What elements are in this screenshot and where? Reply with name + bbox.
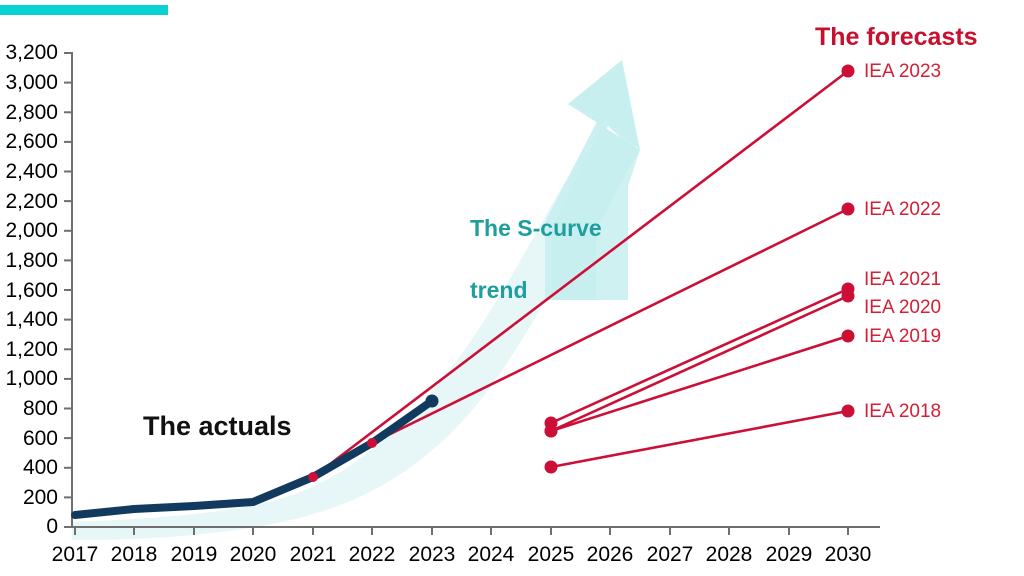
series-label-iea-2022: IEA 2022 [864, 199, 941, 221]
annotation-s-curve-line2: trend [470, 277, 528, 303]
line-iea-2018 [551, 411, 848, 467]
y-tick-label: 1,600 [0, 280, 58, 301]
y-tick-label: 1,400 [0, 309, 58, 330]
y-tick-label: 3,000 [0, 72, 58, 93]
y-axis-ticks [64, 53, 72, 527]
marker-iea2019-start [545, 425, 558, 438]
y-tick-label: 0 [0, 516, 58, 537]
y-tick-label: 2,800 [0, 102, 58, 123]
marker-iea2020-end [842, 290, 855, 303]
series-label-iea-2018: IEA 2018 [864, 401, 941, 423]
marker-iea2018-end [842, 405, 855, 418]
chart-root: 0 200 400 600 800 1,000 1,200 1,400 1,60… [0, 0, 1024, 576]
marker-iea2023-start [308, 472, 318, 482]
y-tick-label: 400 [0, 457, 58, 478]
forecasts-title: The forecasts [815, 23, 978, 52]
series-label-iea-2021: IEA 2021 [864, 269, 941, 291]
line-iea-2019 [551, 336, 848, 431]
y-tick-label: 3,200 [0, 42, 58, 63]
annotation-s-curve-trend: The S-curve trend [470, 182, 602, 306]
y-tick-label: 1,200 [0, 339, 58, 360]
annotation-actuals: The actuals [143, 411, 292, 442]
y-tick-label: 2,400 [0, 161, 58, 182]
y-tick-label: 200 [0, 487, 58, 508]
line-iea-2021 [551, 289, 848, 423]
series-label-iea-2023: IEA 2023 [864, 61, 941, 83]
marker-iea2019-end [842, 330, 855, 343]
y-tick-label: 600 [0, 428, 58, 449]
series-label-iea-2019: IEA 2019 [864, 326, 941, 348]
y-tick-label: 2,200 [0, 191, 58, 212]
marker-iea2018-start [545, 461, 558, 474]
y-tick-label: 2,600 [0, 131, 58, 152]
marker-iea2023-end [842, 65, 855, 78]
y-tick-label: 1,000 [0, 368, 58, 389]
x-tick-label: 2030 [804, 544, 892, 565]
marker-iea2022-start [367, 438, 377, 448]
y-tick-label: 1,800 [0, 250, 58, 271]
y-tick-label: 800 [0, 398, 58, 419]
marker-actuals-2023 [426, 395, 439, 408]
line-iea-2020 [551, 296, 848, 431]
annotation-s-curve-line1: The S-curve [470, 215, 602, 241]
y-tick-label: 2,000 [0, 220, 58, 241]
series-label-iea-2020: IEA 2020 [864, 297, 941, 319]
marker-iea2022-end [842, 203, 855, 216]
